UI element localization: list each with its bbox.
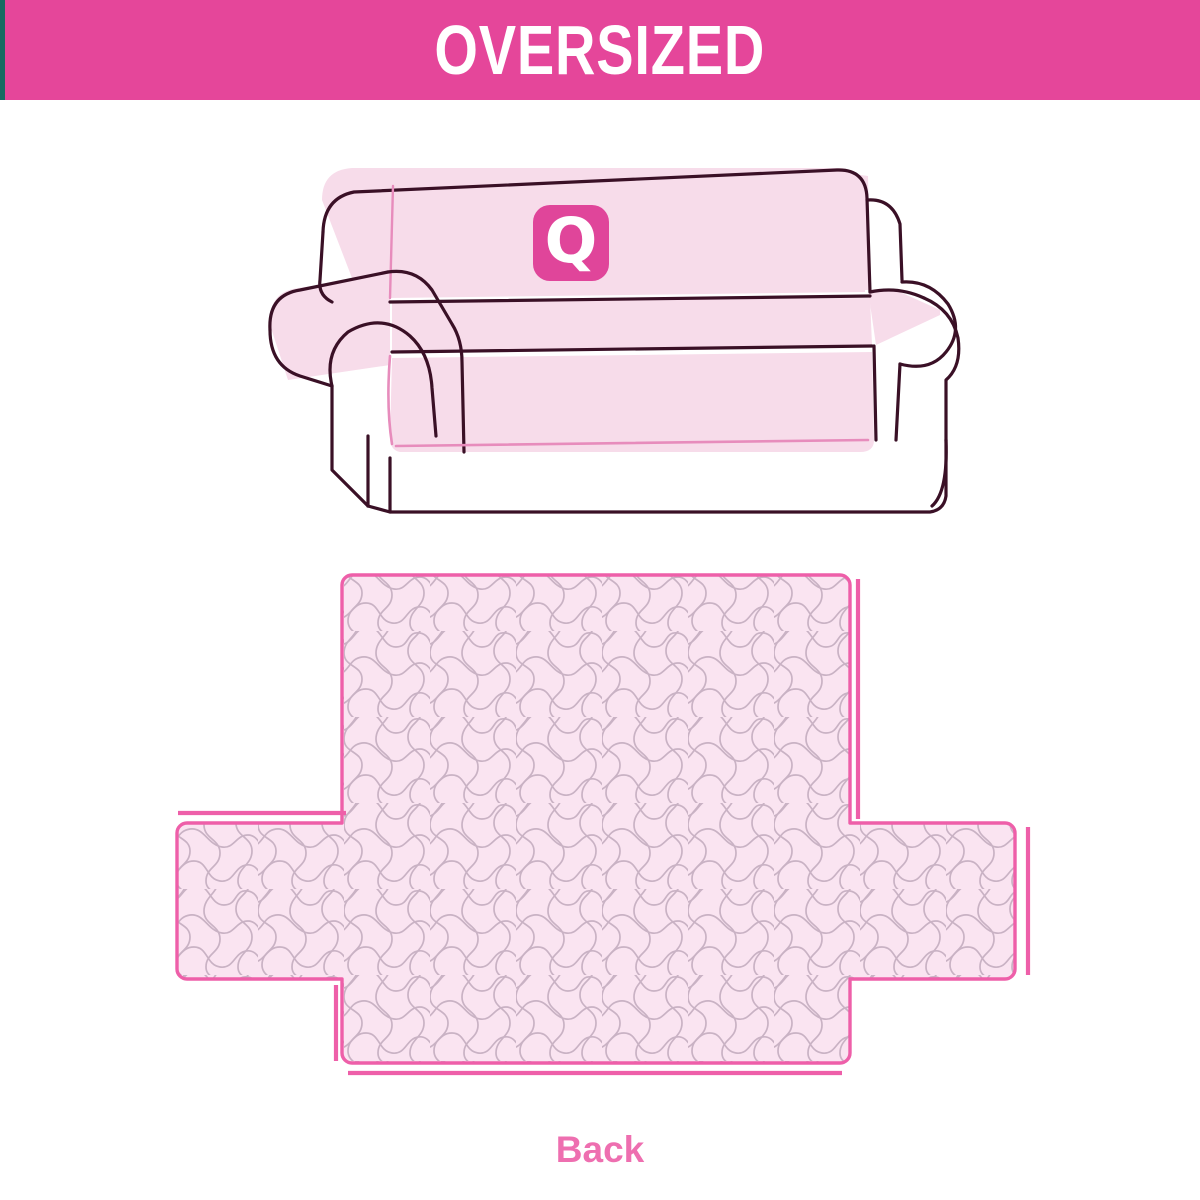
header-banner: OVERSIZED <box>0 0 1200 100</box>
sofa-illustration <box>240 140 980 520</box>
brand-logo-letter: Q <box>545 210 598 272</box>
brand-logo-badge: Q <box>533 205 609 281</box>
cover-shape <box>177 575 1015 1063</box>
banner-left-accent-stripe <box>0 0 5 100</box>
label-back: Back <box>556 1131 644 1168</box>
dimension-diagram: Back Front Armrest Armrest OVERSIZED 24”… <box>0 545 1200 1145</box>
product-dimension-graphic: OVERSIZED <box>0 0 1200 1200</box>
banner-title: OVERSIZED <box>435 15 766 85</box>
